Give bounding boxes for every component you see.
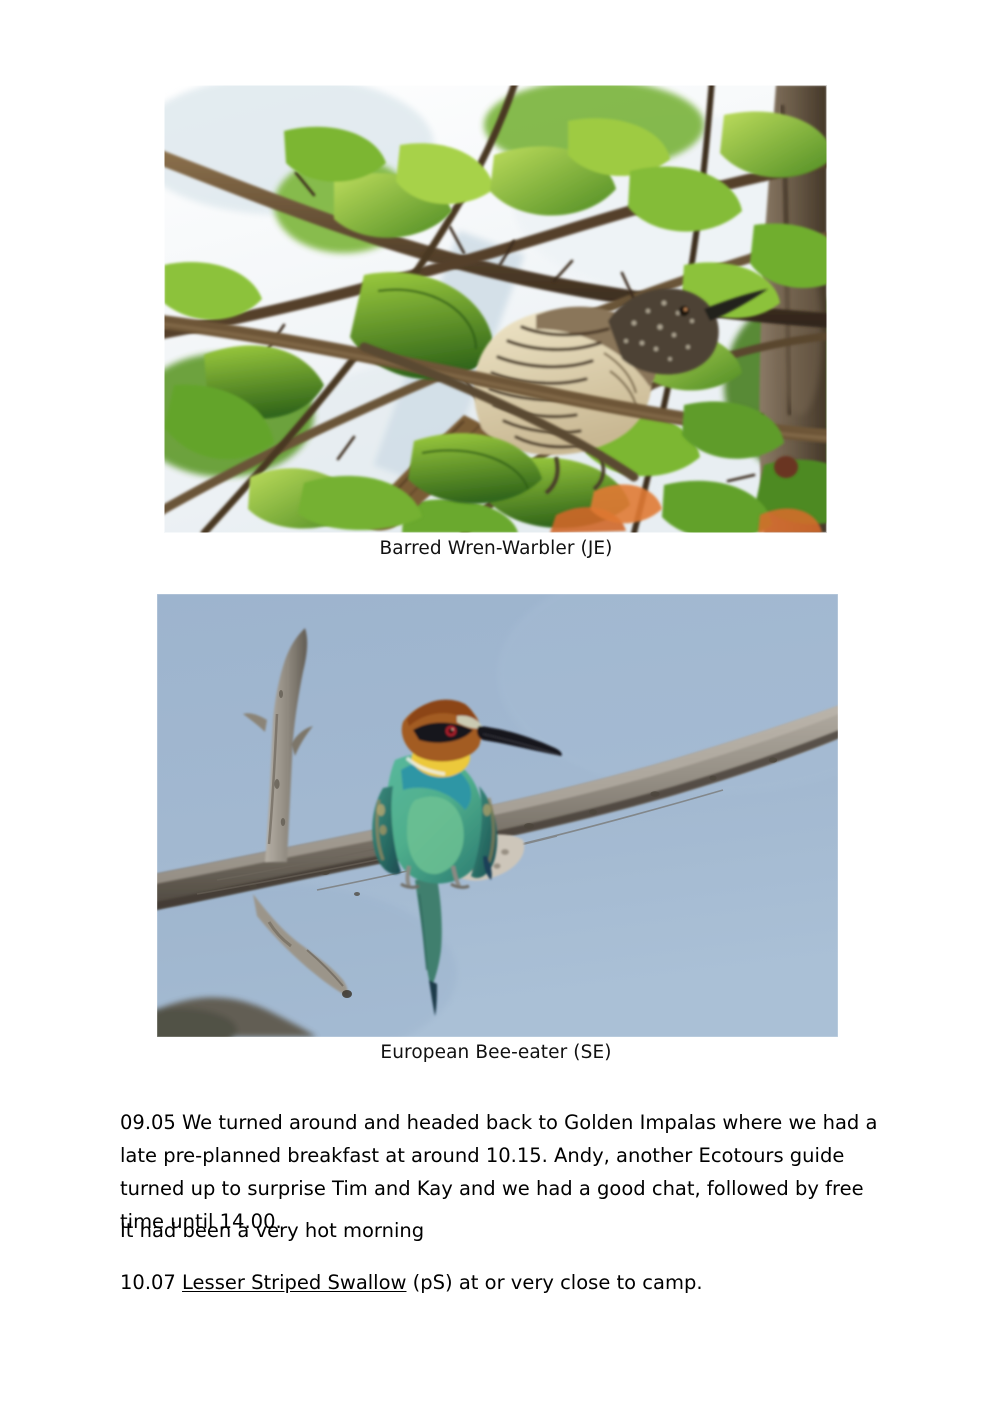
- species-name-lesser-striped-swallow: Lesser Striped Swallow: [182, 1271, 406, 1294]
- figure-european-bee-eater: [157, 594, 838, 1037]
- figure-barred-wren-warbler: [164, 85, 827, 533]
- paragraph-swallow-record: 10.07 Lesser Striped Swallow (pS) at or …: [120, 1266, 880, 1299]
- document-page: Barred Wren-Warbler (JE): [0, 0, 992, 1403]
- photo-barred-wren-warbler: [164, 85, 827, 533]
- caption-barred-wren-warbler: Barred Wren-Warbler (JE): [0, 538, 992, 559]
- paragraph-hot-morning: It had been a very hot morning: [120, 1214, 880, 1247]
- caption-european-bee-eater: European Bee-eater (SE): [0, 1042, 992, 1063]
- swallow-record-rest: (pS) at or very close to camp.: [406, 1271, 702, 1294]
- photo-european-bee-eater: [157, 594, 838, 1037]
- swallow-record-time: 10.07: [120, 1271, 182, 1294]
